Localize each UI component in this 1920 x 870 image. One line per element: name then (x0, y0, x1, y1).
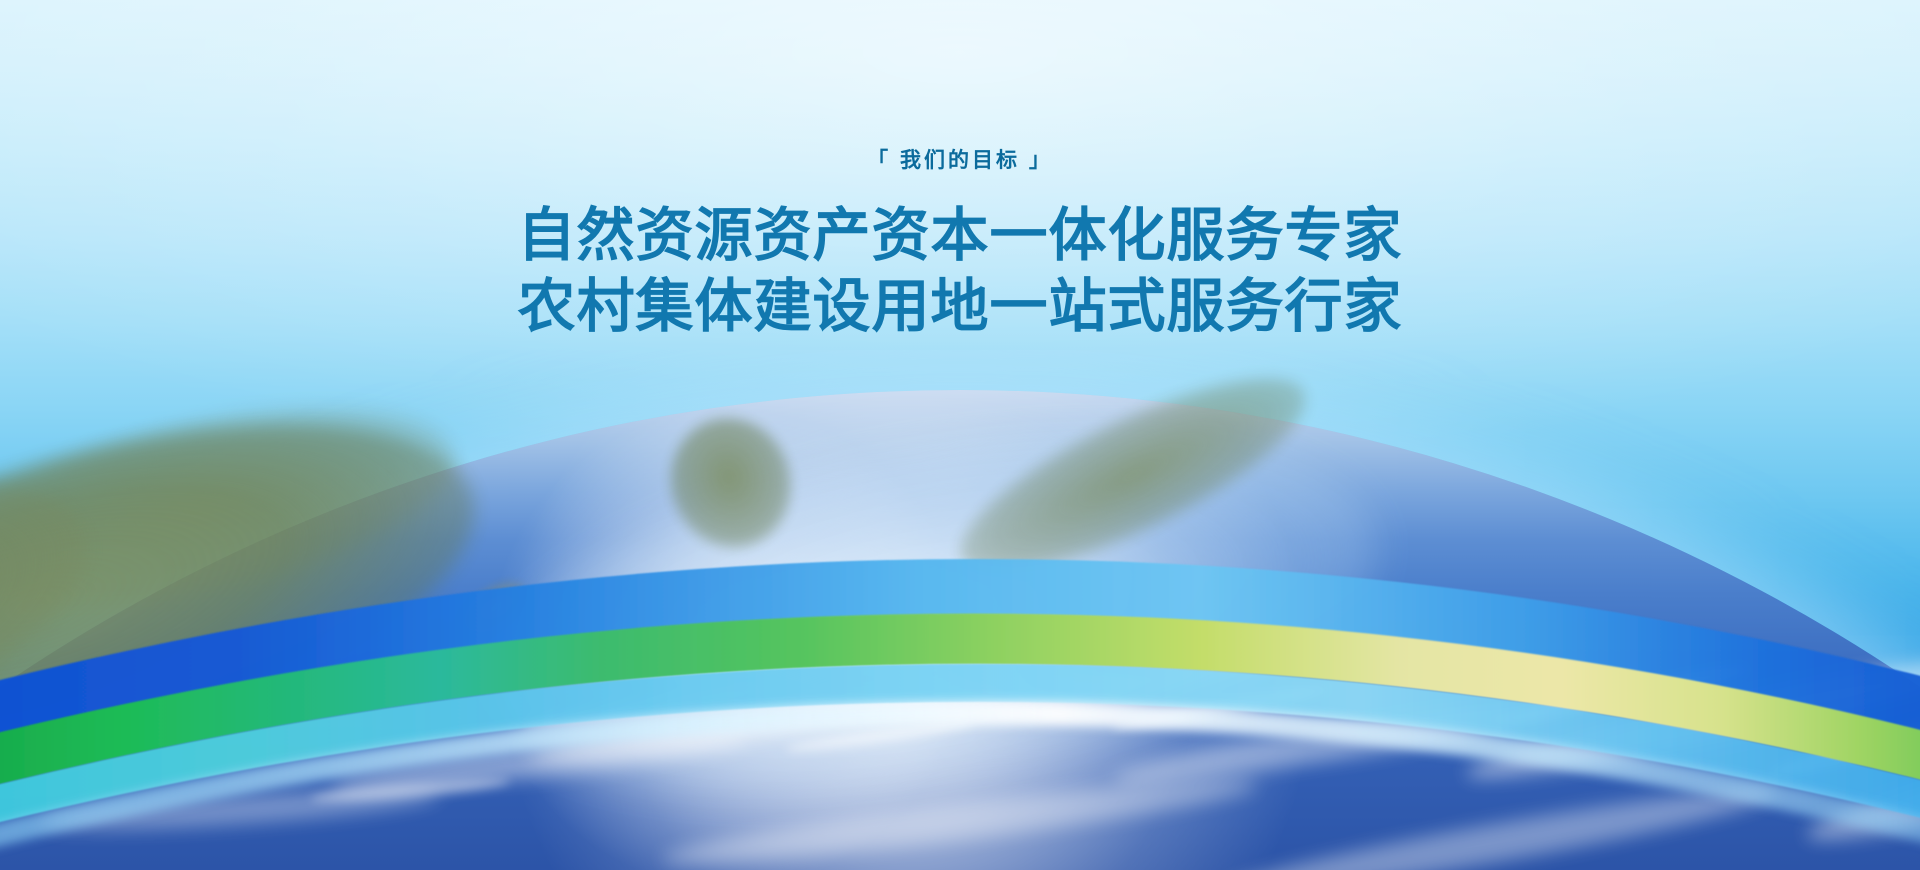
landmass-china (0, 351, 513, 865)
hero-copy: 「 我们的目标 」 自然资源资产资本一体化服务专家 农村集体建设用地一站式服务行… (0, 150, 1920, 343)
earth-limb-container (0, 350, 1920, 870)
page-title: 自然资源资产资本一体化服务专家 农村集体建设用地一站式服务行家 (0, 201, 1920, 343)
headline-line-2: 农村集体建设用地一站式服务行家 (0, 272, 1920, 343)
hero-banner: 「 我们的目标 」 自然资源资产资本一体化服务专家 农村集体建设用地一站式服务行… (0, 0, 1920, 870)
eyebrow-label: 「 我们的目标 」 (0, 150, 1920, 171)
earth-globe (0, 390, 1920, 870)
headline-line-1: 自然资源资产资本一体化服务专家 (0, 201, 1920, 272)
